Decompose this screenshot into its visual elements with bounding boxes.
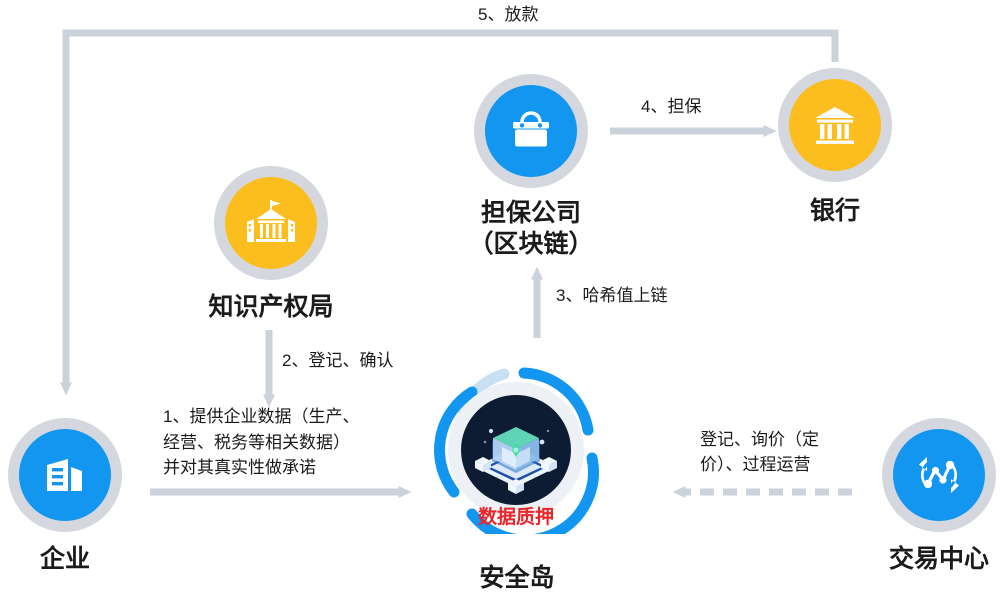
bank-columns-icon (812, 103, 858, 147)
node-label-ip-office: 知识产权局 (173, 292, 369, 323)
trading-center-disc (893, 429, 985, 521)
diagram-canvas: 5、放款 4、担保 3、哈希值上链 2、登记、确认 1、提供企业数据（生产、 经… (0, 0, 1000, 612)
node-label-enterprise: 企业 (0, 544, 130, 575)
bank-disc (789, 79, 881, 171)
edge-label-2-register: 2、登记、确认 (282, 350, 393, 373)
toolbox-icon (506, 108, 556, 154)
node-label-trading-center: 交易中心 (872, 544, 1000, 575)
edge-label-5-loan: 5、放款 (478, 4, 538, 27)
security-island-core (461, 395, 571, 505)
edge-label-3-hash: 3、哈希值上链 (556, 285, 667, 308)
government-building-flag-icon (245, 198, 297, 248)
edge-label-4-guarantee: 4、担保 (641, 96, 701, 119)
guarantee-company-disc (485, 85, 577, 177)
network-nodes-icon (914, 450, 964, 500)
enterprise-disc (19, 429, 111, 521)
edge-label-trading: 登记、询价（定 价）、过程运营 (700, 428, 819, 477)
isometric-data-vault-icon (461, 395, 571, 505)
node-label-security-island: 安全岛 (452, 563, 582, 594)
node-label-bank: 银行 (772, 196, 898, 227)
building-document-icon (41, 451, 89, 499)
edge-label-1-data: 1、提供企业数据（生产、 经营、税务等相关数据） 并对其真实性做承诺 (163, 404, 359, 481)
security-island-tag: 数据质押 (432, 502, 600, 529)
ip-office-disc (225, 177, 317, 269)
node-label-guarantee-company: 担保公司 （区块链） (441, 198, 621, 259)
